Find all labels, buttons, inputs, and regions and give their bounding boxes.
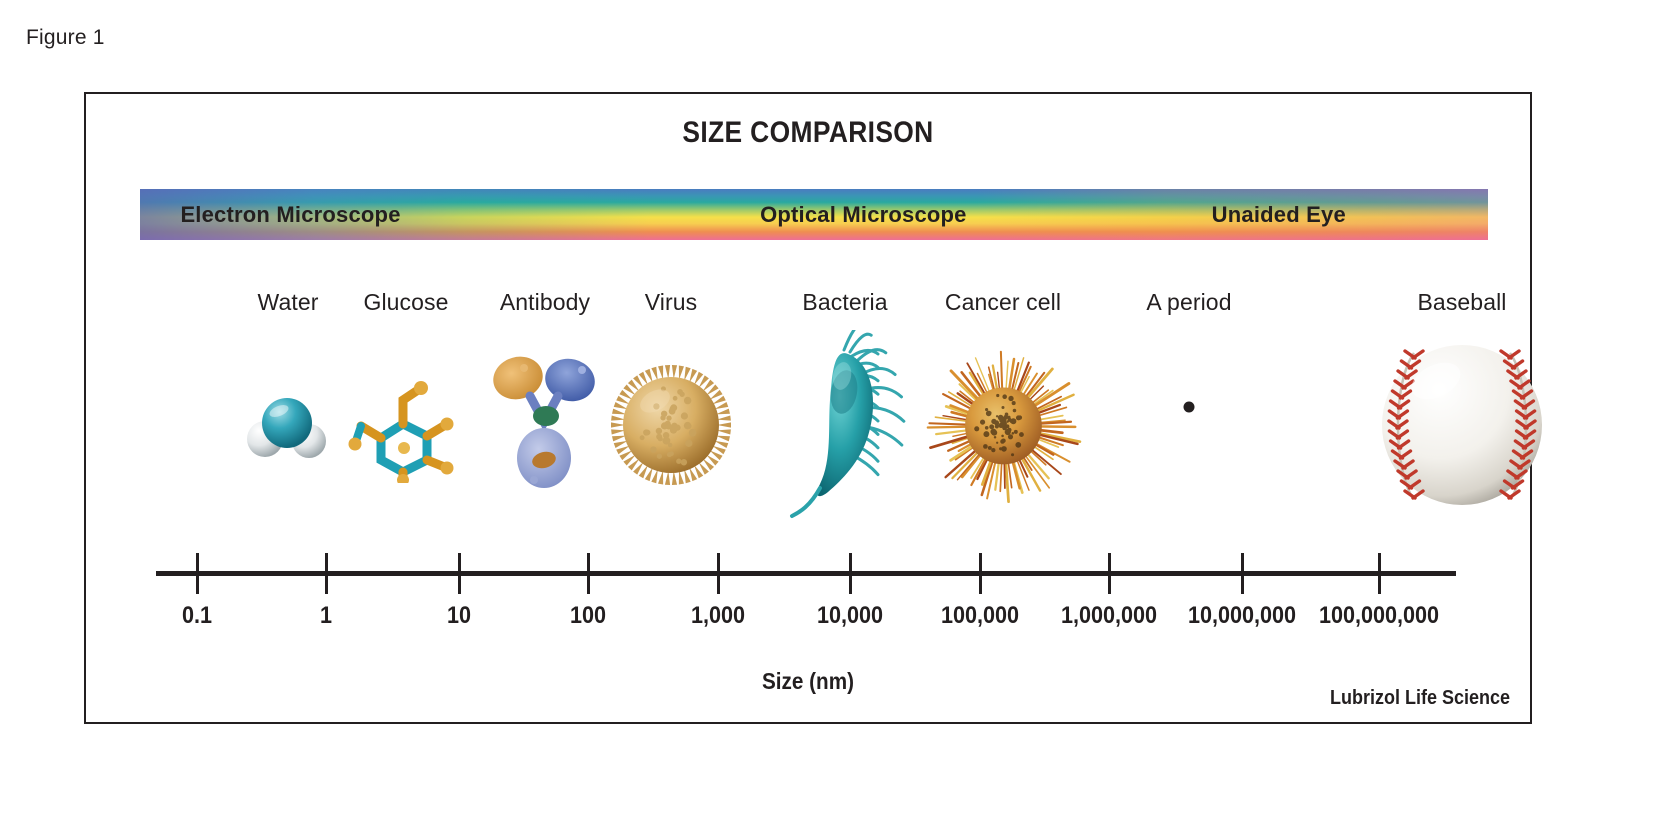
- specimen-label-bacteria: Bacteria: [765, 289, 925, 316]
- specimen-glucose: Glucose: [326, 289, 486, 520]
- axis-tick-label: 10,000: [817, 602, 883, 630]
- axis-tick-label: 10: [447, 602, 471, 630]
- specimen-virus: Virus: [591, 289, 751, 520]
- baseball-icon: [1372, 330, 1552, 520]
- virus-particle-icon: [591, 330, 751, 520]
- specimen-label-baseball: Baseball: [1372, 289, 1552, 316]
- specimen-cancer-cell: Cancer cell: [923, 289, 1083, 520]
- axis-tick: [196, 553, 199, 594]
- band-label-electron-microscope: Electron Microscope: [180, 202, 400, 228]
- specimen-row: Water: [86, 289, 1530, 549]
- axis-title: Size (nm): [158, 668, 1458, 695]
- axis-tick: [849, 553, 852, 594]
- axis-tick-label: 0.1: [182, 602, 212, 630]
- period-dot-icon: [1109, 330, 1269, 520]
- microscopy-range-bar: Electron Microscope Optical Microscope U…: [140, 189, 1488, 240]
- axis-tick: [458, 553, 461, 594]
- specimen-baseball: Baseball: [1372, 289, 1552, 520]
- axis-tick: [979, 553, 982, 594]
- axis-tick-label: 1,000,000: [1061, 602, 1157, 630]
- glucose-molecule-icon: [326, 330, 486, 520]
- axis-tick: [587, 553, 590, 594]
- credit-label: Lubrizol Life Science: [1330, 687, 1510, 710]
- axis-tick-label: 100: [570, 602, 606, 630]
- cancer-cell-icon: [923, 330, 1083, 520]
- axis-tick: [1241, 553, 1244, 594]
- page-title: SIZE COMPARISON: [173, 116, 1444, 150]
- bacteria-cell-icon: [765, 330, 925, 520]
- axis-tick: [325, 553, 328, 594]
- axis-tick-label: 1,000: [691, 602, 745, 630]
- axis-tick-label: 10,000,000: [1188, 602, 1296, 630]
- axis-tick: [1108, 553, 1111, 594]
- band-label-optical-microscope: Optical Microscope: [760, 202, 967, 228]
- figure-caption: Figure 1: [26, 26, 105, 50]
- axis-tick-label: 100,000: [941, 602, 1019, 630]
- specimen-a-period: A period: [1109, 289, 1269, 520]
- band-label-unaided-eye: Unaided Eye: [1212, 202, 1346, 228]
- specimen-label-a-period: A period: [1109, 289, 1269, 316]
- axis-line: [156, 571, 1456, 576]
- specimen-label-glucose: Glucose: [326, 289, 486, 316]
- axis-tick-label: 1: [320, 602, 332, 630]
- axis-tick-label: 100,000,000: [1319, 602, 1439, 630]
- specimen-label-virus: Virus: [591, 289, 751, 316]
- axis-tick: [1378, 553, 1381, 594]
- specimen-label-cancer-cell: Cancer cell: [923, 289, 1083, 316]
- figure-frame: SIZE COMPARISON Electron Microscope Opti…: [84, 92, 1532, 724]
- axis-tick: [717, 553, 720, 594]
- specimen-bacteria: Bacteria: [765, 289, 925, 520]
